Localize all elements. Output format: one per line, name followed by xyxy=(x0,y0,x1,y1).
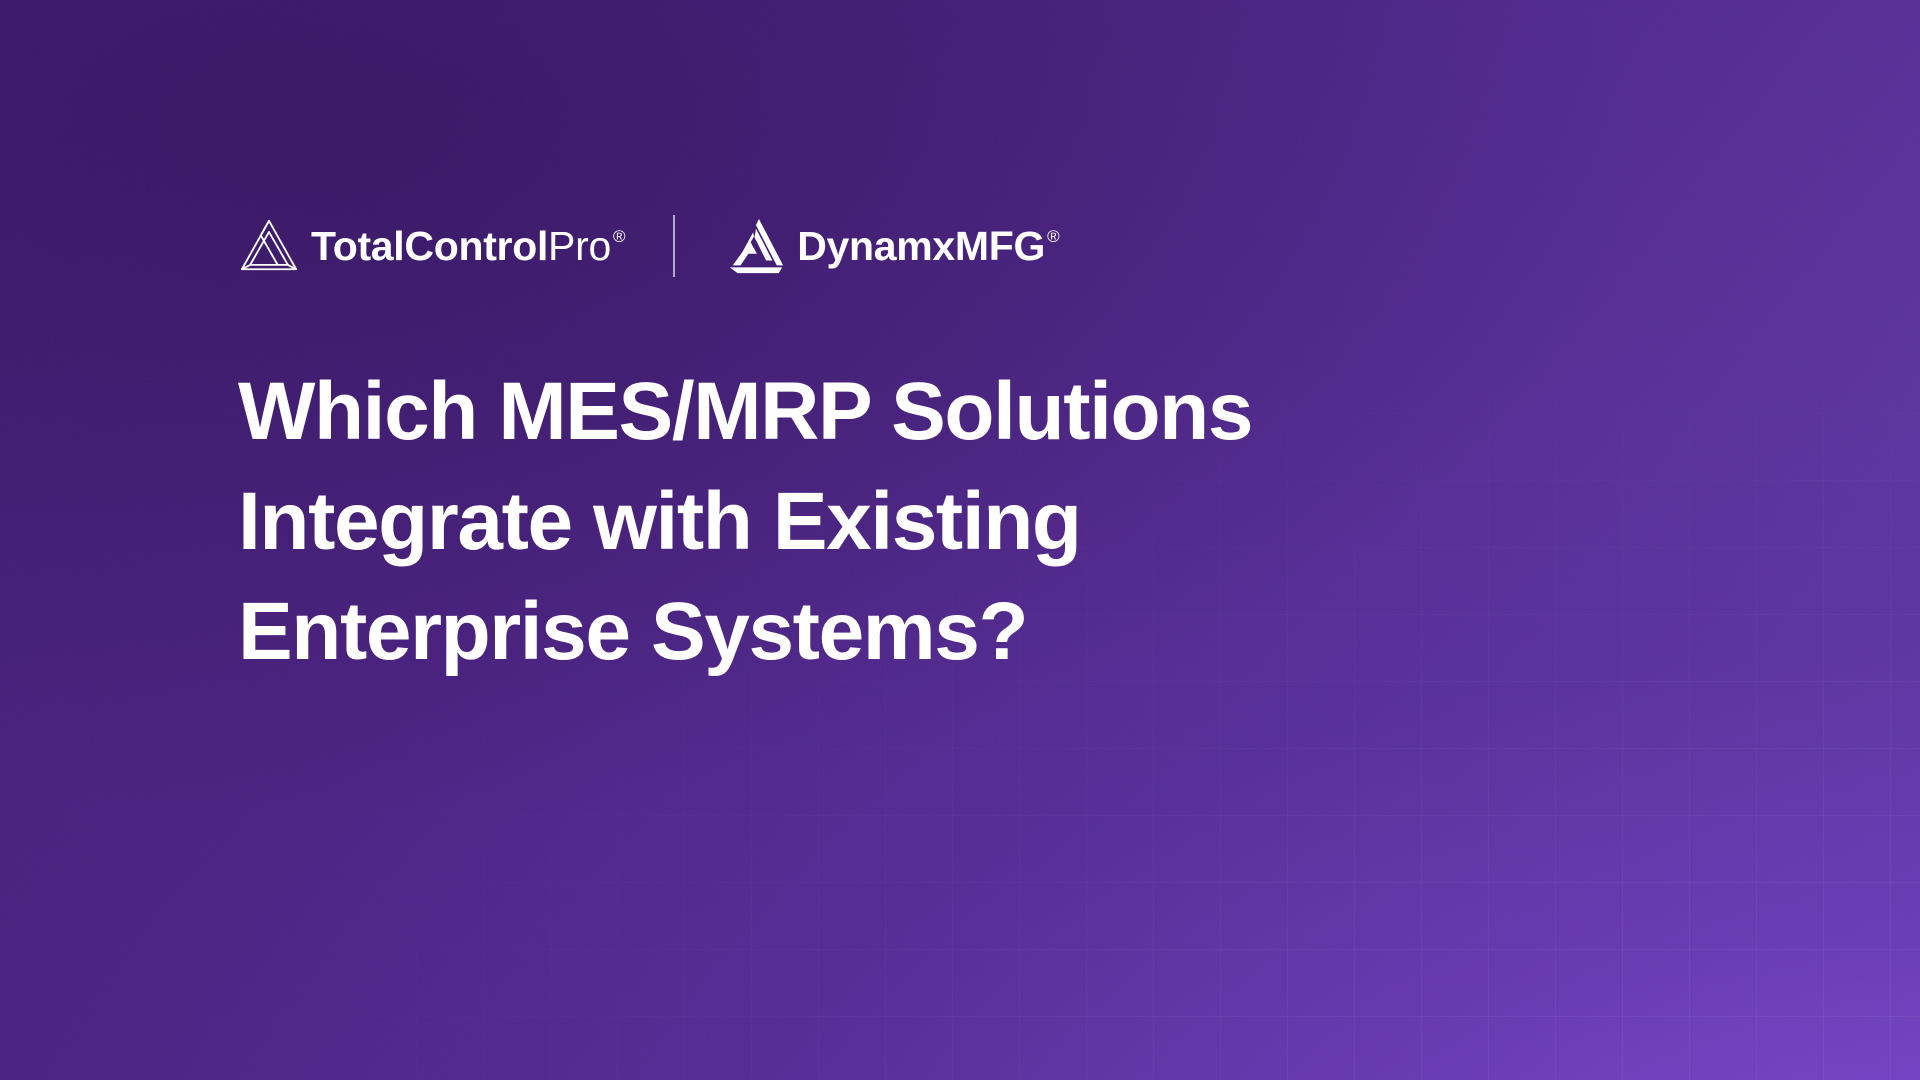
logo-word-bold: TotalControl xyxy=(311,226,548,267)
slide-content: TotalControlPro® DynamxMFG® Which MES xyxy=(238,0,1658,1080)
slide-canvas: TotalControlPro® DynamxMFG® Which MES xyxy=(0,0,1920,1080)
totalcontrolpro-wordmark: TotalControlPro® xyxy=(311,226,625,267)
totalcontrolpro-logo[interactable]: TotalControlPro® xyxy=(238,215,625,277)
logo-lockup: TotalControlPro® DynamxMFG® xyxy=(238,208,1059,284)
registered-trademark-icon: ® xyxy=(613,228,625,245)
headline-line: Integrate with Existing xyxy=(238,467,1252,577)
logo-word-bold: DynamxMFG xyxy=(797,226,1045,267)
registered-trademark-icon: ® xyxy=(1047,228,1059,245)
page-title: Which MES/MRP Solutions Integrate with E… xyxy=(238,357,1252,687)
headline-line: Which MES/MRP Solutions xyxy=(238,357,1252,467)
dynamic-triangle-icon xyxy=(723,215,787,277)
dynamxmfg-wordmark: DynamxMFG® xyxy=(797,226,1059,267)
penrose-triangle-icon xyxy=(238,215,300,277)
headline-line: Enterprise Systems? xyxy=(238,577,1252,687)
logo-divider xyxy=(673,215,675,277)
dynamxmfg-logo[interactable]: DynamxMFG® xyxy=(723,215,1059,277)
logo-word-light: Pro xyxy=(548,226,611,267)
